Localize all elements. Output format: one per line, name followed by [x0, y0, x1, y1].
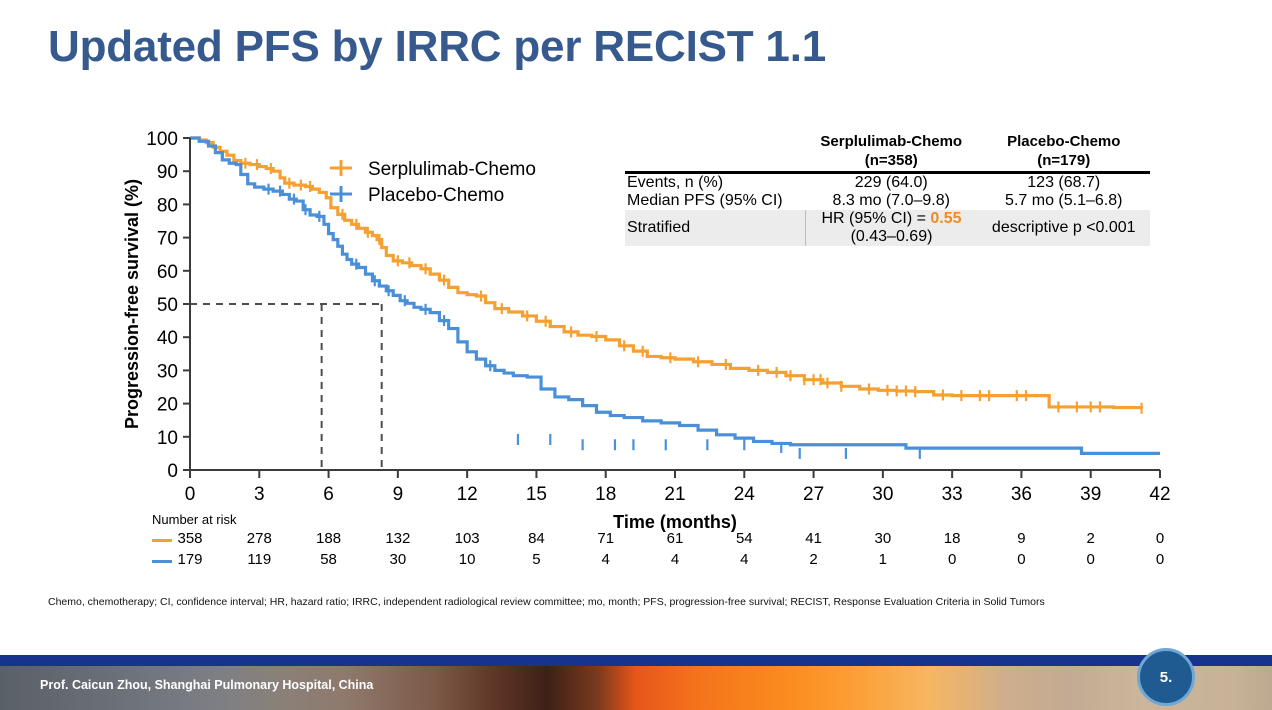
y-tick-label: 40 [157, 328, 178, 349]
risk-value: 2 [1087, 530, 1095, 547]
risk-value: 54 [736, 530, 753, 547]
stats-header-placebo-n: (n=179) [978, 152, 1151, 171]
median-pfs-placebo: 5.7 mo (5.1–6.8) [978, 192, 1151, 210]
risk-value: 103 [455, 530, 480, 547]
risk-value: 18 [944, 530, 961, 547]
x-tick-label: 6 [323, 484, 334, 505]
x-tick-label: 30 [872, 484, 893, 505]
y-tick-label: 20 [157, 395, 178, 416]
p-value: descriptive p <0.001 [978, 210, 1151, 246]
risk-value: 188 [316, 530, 341, 547]
risk-value: 71 [597, 530, 614, 547]
hr-prefix: HR (95% CI) = [821, 210, 930, 227]
stats-header-serplulimab: Serplulimab-Chemo (n=358) [805, 133, 978, 172]
stratified-row: Stratified HR (95% CI) = 0.55 (0.43–0.69… [625, 210, 1150, 246]
y-tick-label: 0 [167, 461, 178, 482]
risk-value: 58 [320, 551, 337, 568]
footer-navy-bar [0, 655, 1272, 666]
y-tick-label: 50 [157, 295, 178, 316]
risk-value: 30 [390, 551, 407, 568]
risk-value: 119 [247, 551, 271, 568]
footnote: Chemo, chemotherapy; CI, confidence inte… [48, 596, 1228, 610]
number-at-risk-row-serplulimab: 35827818813210384716154413018920 [152, 530, 1162, 551]
stats-header-placebo: Placebo-Chemo (n=179) [978, 133, 1151, 172]
risk-color-swatch [152, 560, 172, 563]
risk-value: 84 [528, 530, 545, 547]
y-tick-label: 90 [157, 162, 178, 183]
risk-value: 4 [671, 551, 679, 568]
events-label: Events, n (%) [625, 172, 805, 192]
legend-label-placebo: Placebo-Chemo [368, 185, 504, 206]
risk-value: 61 [667, 530, 684, 547]
risk-value: 0 [1087, 551, 1095, 568]
y-tick-label: 60 [157, 262, 178, 283]
stats-table: Serplulimab-Chemo (n=358) Placebo-Chemo … [625, 133, 1150, 246]
risk-value: 0 [1156, 530, 1164, 547]
stats-header-row: Serplulimab-Chemo (n=358) Placebo-Chemo … [625, 133, 1150, 172]
risk-value: 0 [948, 551, 956, 568]
y-axis-title: Progression-free survival (%) [122, 179, 142, 429]
risk-value: 0 [1156, 551, 1164, 568]
events-serplulimab: 229 (64.0) [805, 172, 978, 192]
risk-value: 2 [809, 551, 817, 568]
x-tick-label: 33 [942, 484, 963, 505]
x-tick-label: 42 [1149, 484, 1170, 505]
x-tick-label: 21 [664, 484, 685, 505]
number-at-risk-title: Number at risk [152, 512, 1162, 527]
stats-header-serplulimab-name: Serplulimab-Chemo [805, 133, 978, 152]
risk-value: 10 [459, 551, 476, 568]
stats-header-blank [625, 133, 805, 172]
stats-header-placebo-name: Placebo-Chemo [978, 133, 1151, 152]
hr-value: 0.55 [930, 210, 961, 227]
stats-header-serplulimab-n: (n=358) [805, 152, 978, 171]
risk-value: 278 [247, 530, 272, 547]
number-at-risk-row-placebo: 1791195830105444210000 [152, 551, 1162, 572]
risk-value: 5 [532, 551, 540, 568]
risk-value: 179 [177, 551, 202, 568]
risk-value: 132 [385, 530, 410, 547]
presenter-name: Prof. Caicun Zhou, Shanghai Pulmonary Ho… [40, 678, 373, 692]
risk-value: 4 [602, 551, 610, 568]
x-tick-label: 27 [803, 484, 824, 505]
risk-value: 41 [805, 530, 822, 547]
y-tick-label: 100 [146, 129, 178, 150]
x-tick-label: 12 [457, 484, 478, 505]
risk-value: 30 [875, 530, 892, 547]
y-tick-label: 30 [157, 361, 178, 382]
hr-ci: (0.43–0.69) [851, 228, 933, 245]
y-tick-label: 10 [157, 428, 178, 449]
median-pfs-serplulimab: 8.3 mo (7.0–9.8) [805, 192, 978, 210]
legend-label-serplulimab: Serplulimab-Chemo [368, 159, 536, 180]
stratified-label: Stratified [625, 210, 805, 246]
events-placebo: 123 (68.7) [978, 172, 1151, 192]
table-row: Median PFS (95% CI) 8.3 mo (7.0–9.8) 5.7… [625, 192, 1150, 210]
x-tick-label: 18 [595, 484, 616, 505]
x-tick-label: 24 [734, 484, 756, 505]
median-pfs-label: Median PFS (95% CI) [625, 192, 805, 210]
y-tick-label: 70 [157, 229, 178, 250]
x-tick-label: 39 [1080, 484, 1101, 505]
slide-root: Updated PFS by IRRC per RECIST 1.1 01020… [0, 0, 1272, 710]
page-number-badge: 5. [1137, 648, 1195, 706]
x-tick-label: 3 [254, 484, 265, 505]
risk-value: 358 [177, 530, 202, 547]
risk-value: 0 [1017, 551, 1025, 568]
x-tick-label: 15 [526, 484, 547, 505]
risk-value: 4 [740, 551, 748, 568]
risk-value: 9 [1017, 530, 1025, 547]
page-title: Updated PFS by IRRC per RECIST 1.1 [48, 22, 826, 72]
x-tick-label: 36 [1011, 484, 1032, 505]
x-tick-label: 0 [185, 484, 196, 505]
risk-color-swatch [152, 539, 172, 542]
number-at-risk: Number at risk 3582781881321038471615441… [152, 512, 1162, 572]
x-tick-label: 9 [393, 484, 404, 505]
risk-value: 1 [879, 551, 887, 568]
table-row: Events, n (%) 229 (64.0) 123 (68.7) [625, 172, 1150, 192]
y-tick-label: 80 [157, 195, 178, 216]
hazard-ratio-cell: HR (95% CI) = 0.55 (0.43–0.69) [805, 210, 978, 246]
